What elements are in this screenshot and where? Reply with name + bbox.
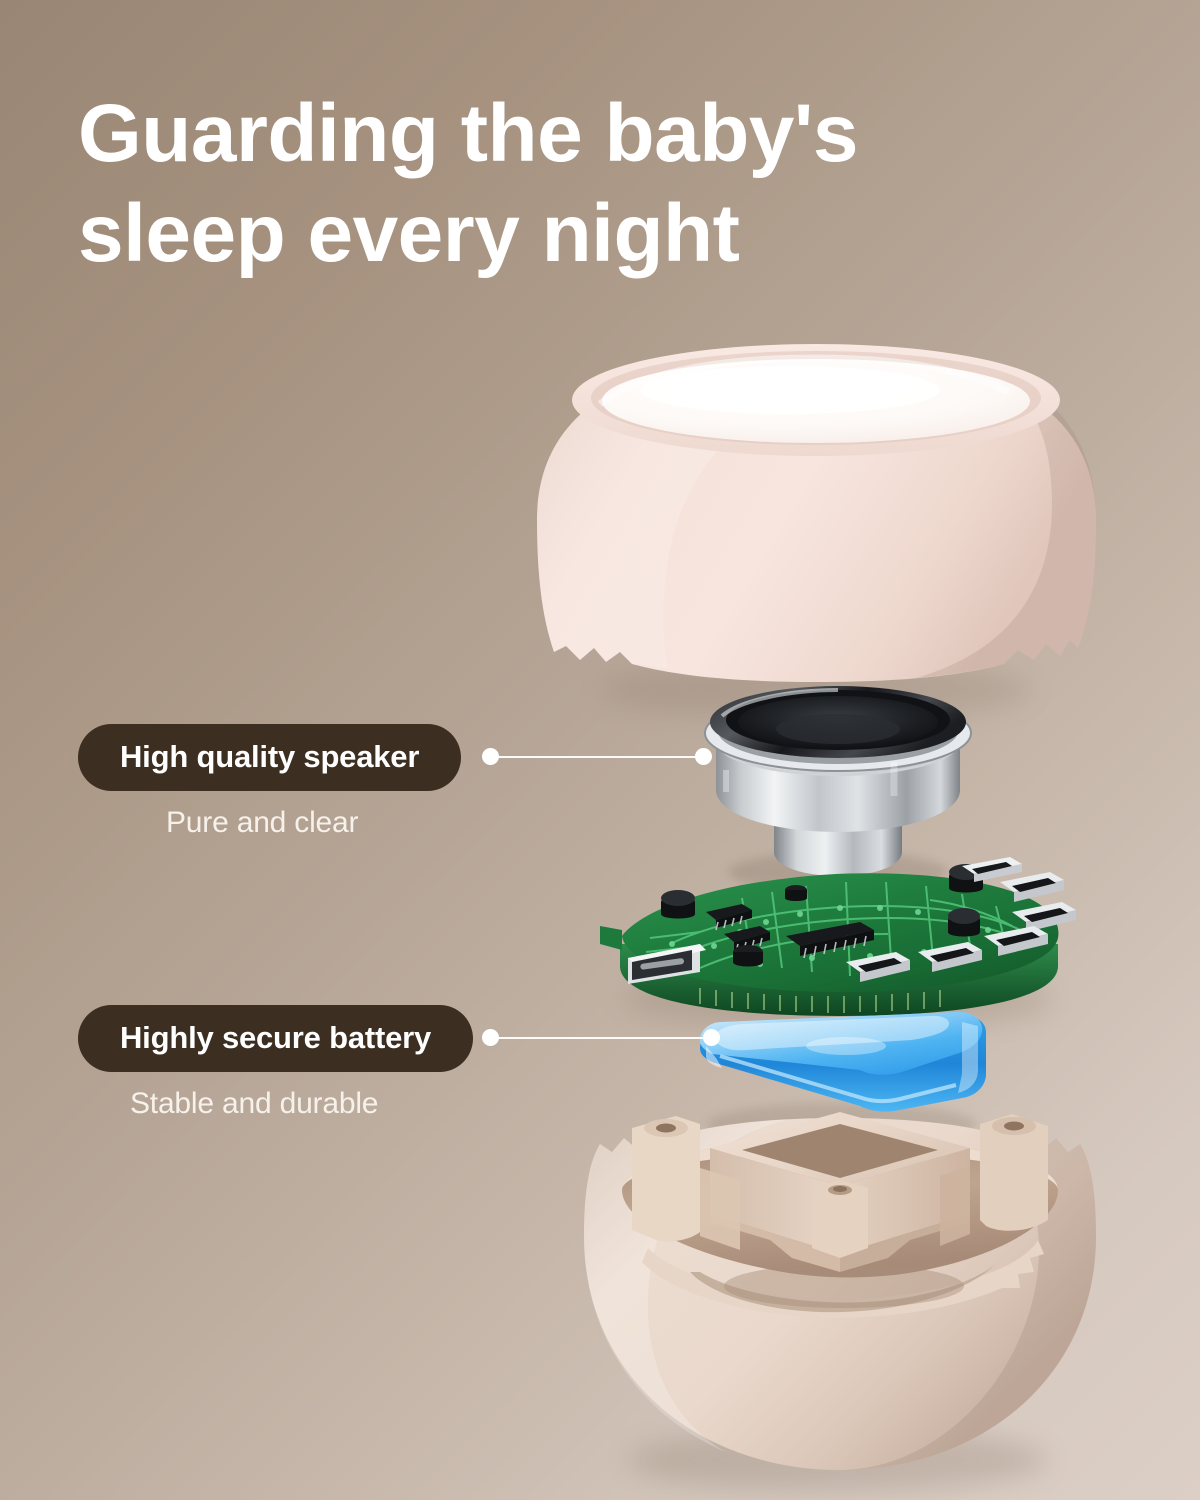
connector-line-battery (490, 1029, 712, 1047)
part-top-shell (537, 344, 1096, 720)
connector-dot-part-battery (703, 1029, 720, 1046)
connector-dot-part-speaker (695, 748, 712, 765)
callout-battery-subtitle: Stable and durable (130, 1087, 473, 1121)
callout-battery: Highly secure battery Stable and durable (78, 1005, 473, 1121)
connector-dot-pill-battery (482, 1029, 499, 1046)
part-bottom-shell (584, 1112, 1096, 1492)
connector-line-speaker (490, 748, 704, 766)
callout-battery-title: Highly secure battery (78, 1005, 473, 1072)
callout-speaker: High quality speaker Pure and clear (78, 724, 461, 840)
callout-speaker-subtitle: Pure and clear (166, 806, 461, 840)
infographic-canvas: Guarding the baby's sleep every night (0, 0, 1200, 1500)
part-circuit-board (600, 857, 1076, 1030)
connector-dot-pill-speaker (482, 748, 499, 765)
connector-stroke-battery (490, 1037, 712, 1039)
connector-stroke-speaker (490, 756, 704, 758)
part-speaker-driver (705, 686, 971, 892)
callout-speaker-title: High quality speaker (78, 724, 461, 791)
